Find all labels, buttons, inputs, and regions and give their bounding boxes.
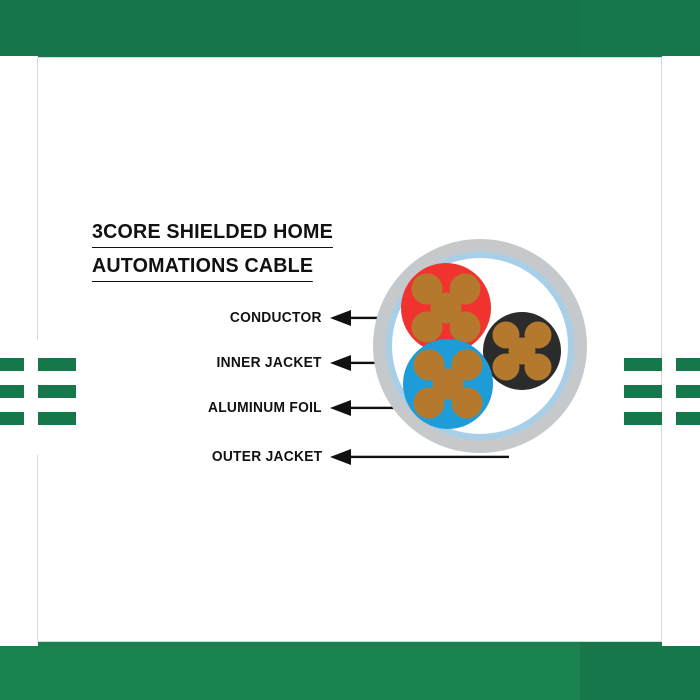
callout-aluminum-foil: ALUMINUM FOIL — [60, 398, 322, 418]
cable-cross-section — [366, 232, 594, 460]
page-title: 3CORE SHIELDED HOME AUTOMATIONS CABLE — [92, 218, 392, 286]
callout-label-conductor: CONDUCTOR — [230, 310, 322, 326]
diagram-canvas: 3CORE SHIELDED HOME AUTOMATIONS CABLE CO… — [0, 0, 700, 700]
page-title-line-1: 3CORE SHIELDED HOME — [92, 218, 333, 248]
stripe — [0, 385, 76, 398]
core-black — [483, 312, 561, 390]
callout-conductor: CONDUCTOR — [60, 308, 322, 328]
callout-label-aluminum-foil: ALUMINUM FOIL — [208, 400, 322, 416]
stripe-notch-left — [24, 340, 38, 455]
core-blue — [403, 339, 493, 429]
callout-label-outer-jacket: OUTER JACKET — [211, 449, 322, 465]
stripe-notch-right — [662, 340, 676, 455]
callout-label-inner-jacket: INNER JACKET — [217, 355, 322, 371]
cable-svg — [366, 232, 594, 460]
page-title-line-2: AUTOMATIONS CABLE — [92, 252, 313, 282]
callout-inner-jacket: INNER JACKET — [60, 353, 322, 373]
callout-outer-jacket: OUTER JACKET — [60, 447, 322, 467]
